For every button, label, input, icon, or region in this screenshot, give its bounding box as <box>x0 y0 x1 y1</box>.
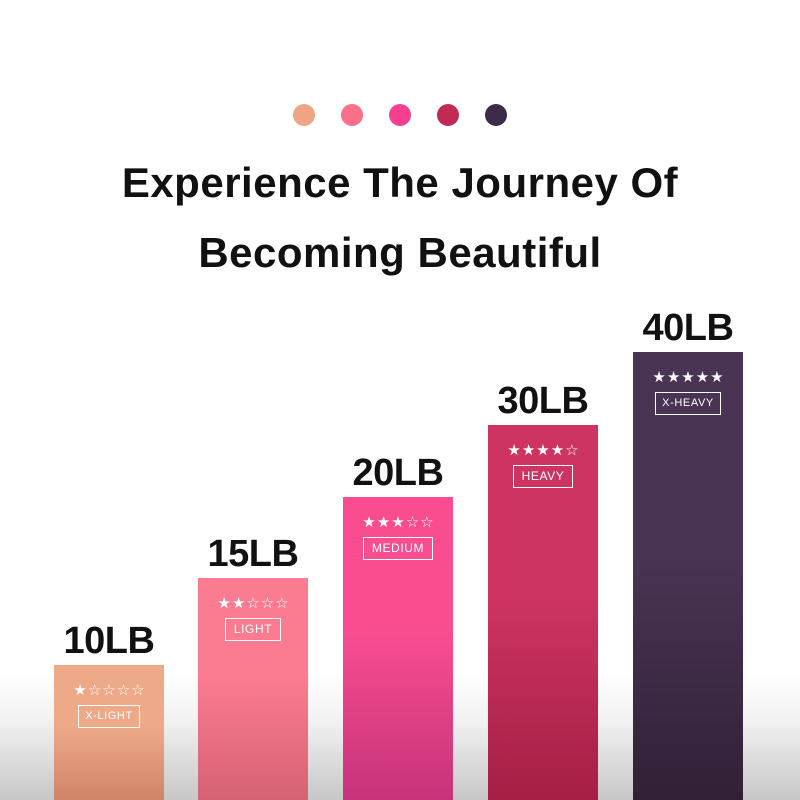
bar-column[interactable]: 15LB★★☆☆☆LIGHT <box>198 530 308 800</box>
dot-x-heavy <box>485 104 507 126</box>
bar-level-label: LIGHT <box>225 618 281 641</box>
dot-medium <box>389 104 411 126</box>
star-filled-icon: ★ <box>362 515 375 530</box>
star-filled-icon: ★ <box>696 370 709 385</box>
star-filled-icon: ★ <box>681 370 694 385</box>
infographic-canvas: Experience The Journey Of Becoming Beaut… <box>0 0 800 800</box>
resistance-band-bar-chart: 10LB★☆☆☆☆X-LIGHT15LB★★☆☆☆LIGHT20LB★★★☆☆M… <box>0 280 800 800</box>
bar-column[interactable]: 30LB★★★★☆HEAVY <box>488 377 598 800</box>
star-empty-icon: ☆ <box>102 683 115 698</box>
star-empty-icon: ☆ <box>275 596 288 611</box>
star-filled-icon: ★ <box>652 370 665 385</box>
bar-badge: ★★★★☆HEAVY <box>488 443 598 488</box>
bar-column[interactable]: 10LB★☆☆☆☆X-LIGHT <box>54 617 164 800</box>
bar-fill[interactable]: ★★★★☆HEAVY <box>488 425 598 800</box>
bar-fill[interactable]: ★☆☆☆☆X-LIGHT <box>54 665 164 800</box>
star-filled-icon: ★ <box>377 515 390 530</box>
bar-level-label: X-LIGHT <box>78 705 140 728</box>
bar-weight-label: 10LB <box>40 621 178 661</box>
page-title-line-1: Experience The Journey Of <box>0 148 800 218</box>
color-swatch-row <box>0 104 800 126</box>
bar-column[interactable]: 20LB★★★☆☆MEDIUM <box>343 449 453 800</box>
page-title: Experience The Journey Of Becoming Beaut… <box>0 148 800 288</box>
bar-fill[interactable]: ★★☆☆☆LIGHT <box>198 578 308 800</box>
star-empty-icon: ☆ <box>131 683 144 698</box>
bar-fill[interactable]: ★★★★★X-HEAVY <box>633 352 743 800</box>
star-empty-icon: ☆ <box>420 515 433 530</box>
star-empty-icon: ☆ <box>565 443 578 458</box>
dot-light <box>341 104 363 126</box>
dot-heavy <box>437 104 459 126</box>
star-filled-icon: ★ <box>232 596 245 611</box>
star-filled-icon: ★ <box>536 443 549 458</box>
star-filled-icon: ★ <box>551 443 564 458</box>
star-rating: ★★★★★ <box>652 370 723 385</box>
star-rating: ★★☆☆☆ <box>217 596 288 611</box>
bar-column[interactable]: 40LB★★★★★X-HEAVY <box>633 304 743 800</box>
star-empty-icon: ☆ <box>117 683 130 698</box>
star-filled-icon: ★ <box>391 515 404 530</box>
bar-level-label: HEAVY <box>513 465 574 488</box>
page-title-line-2: Becoming Beautiful <box>0 218 800 288</box>
star-filled-icon: ★ <box>73 683 86 698</box>
dot-x-light <box>293 104 315 126</box>
star-empty-icon: ☆ <box>88 683 101 698</box>
star-filled-icon: ★ <box>522 443 535 458</box>
star-empty-icon: ☆ <box>246 596 259 611</box>
bar-weight-label: 15LB <box>184 534 322 574</box>
star-rating: ★★★☆☆ <box>362 515 433 530</box>
bar-level-label: X-HEAVY <box>655 392 721 415</box>
bar-weight-label: 40LB <box>619 308 757 348</box>
star-empty-icon: ☆ <box>261 596 274 611</box>
bar-level-label: MEDIUM <box>363 537 433 560</box>
bar-badge: ★★☆☆☆LIGHT <box>198 596 308 641</box>
star-filled-icon: ★ <box>217 596 230 611</box>
bar-badge: ★★★★★X-HEAVY <box>633 370 743 415</box>
star-filled-icon: ★ <box>507 443 520 458</box>
star-filled-icon: ★ <box>667 370 680 385</box>
bar-fill[interactable]: ★★★☆☆MEDIUM <box>343 497 453 800</box>
bar-badge: ★★★☆☆MEDIUM <box>343 515 453 560</box>
bar-weight-label: 30LB <box>474 381 612 421</box>
star-filled-icon: ★ <box>710 370 723 385</box>
bar-badge: ★☆☆☆☆X-LIGHT <box>54 683 164 728</box>
star-rating: ★★★★☆ <box>507 443 578 458</box>
star-rating: ★☆☆☆☆ <box>73 683 144 698</box>
star-empty-icon: ☆ <box>406 515 419 530</box>
bar-weight-label: 20LB <box>329 453 467 493</box>
